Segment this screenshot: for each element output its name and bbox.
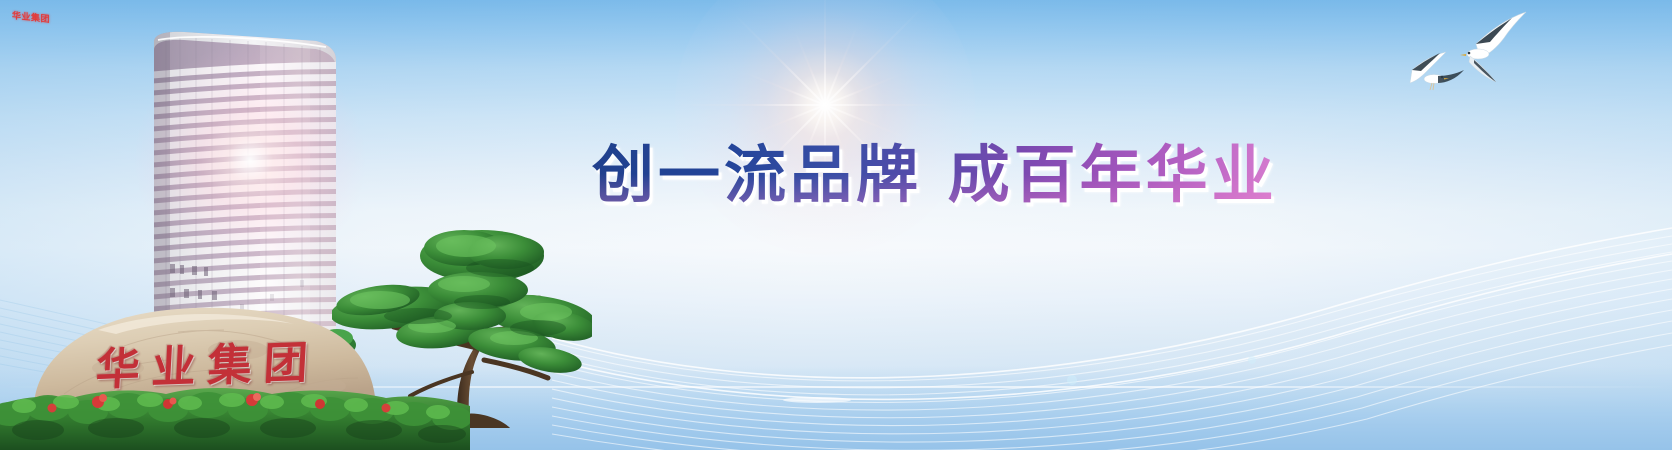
- slogan-tint: 创一流品牌 成百年华业: [592, 132, 1278, 218]
- building-sign: 华业集团: [12, 9, 64, 27]
- seagull-icon: [1410, 52, 1464, 90]
- decorative-wave-lines-right: [552, 210, 1672, 450]
- hero-banner: 创一流品牌 成百年华业 创一流品牌 成百年华业 创一流品牌 成百年华业 Crea…: [0, 0, 1672, 450]
- monument-inscription-translation: Huaye Group: [0, 0, 1, 1]
- hedge-row: [0, 378, 470, 450]
- high-rise-building: [140, 18, 345, 348]
- seagull-icon: [1460, 12, 1526, 82]
- seagull-group: [1396, 8, 1576, 113]
- left-scene: 华业集团: [0, 0, 600, 450]
- banner-slogan: 创一流品牌 成百年华业 创一流品牌 成百年华业 创一流品牌 成百年华业: [592, 132, 1352, 218]
